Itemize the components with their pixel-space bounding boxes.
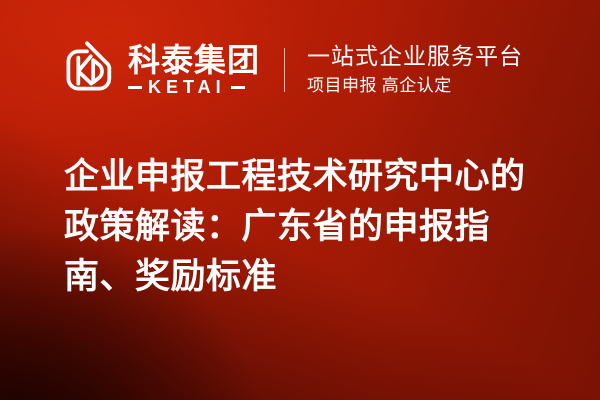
promo-banner: 科泰集团 KETAI 一站式企业服务平台 项目申报 高企认定 企业申报工程技术研…	[0, 0, 600, 400]
header-divider	[284, 48, 285, 92]
ketai-kd-monogram-icon	[56, 39, 118, 101]
brand-name-en: KETAI	[142, 78, 231, 96]
brand-logo[interactable]: 科泰集团 KETAI	[56, 39, 260, 101]
brand-wordmark: 科泰集团 KETAI	[128, 44, 260, 97]
banner-title: 企业申报工程技术研究中心的政策解读：广东省的申报指南、奖励标准	[64, 152, 556, 302]
brand-name-en-row: KETAI	[128, 78, 260, 96]
wordmark-dash-right-icon	[231, 86, 245, 89]
wordmark-dash-left-icon	[128, 86, 142, 89]
banner-header: 科泰集团 KETAI 一站式企业服务平台 项目申报 高企认定	[0, 0, 600, 140]
tagline-block: 一站式企业服务平台 项目申报 高企认定	[307, 43, 523, 96]
tagline-primary: 一站式企业服务平台	[307, 43, 523, 70]
brand-name-cn: 科泰集团	[128, 44, 260, 77]
tagline-secondary: 项目申报 高企认定	[307, 75, 523, 96]
